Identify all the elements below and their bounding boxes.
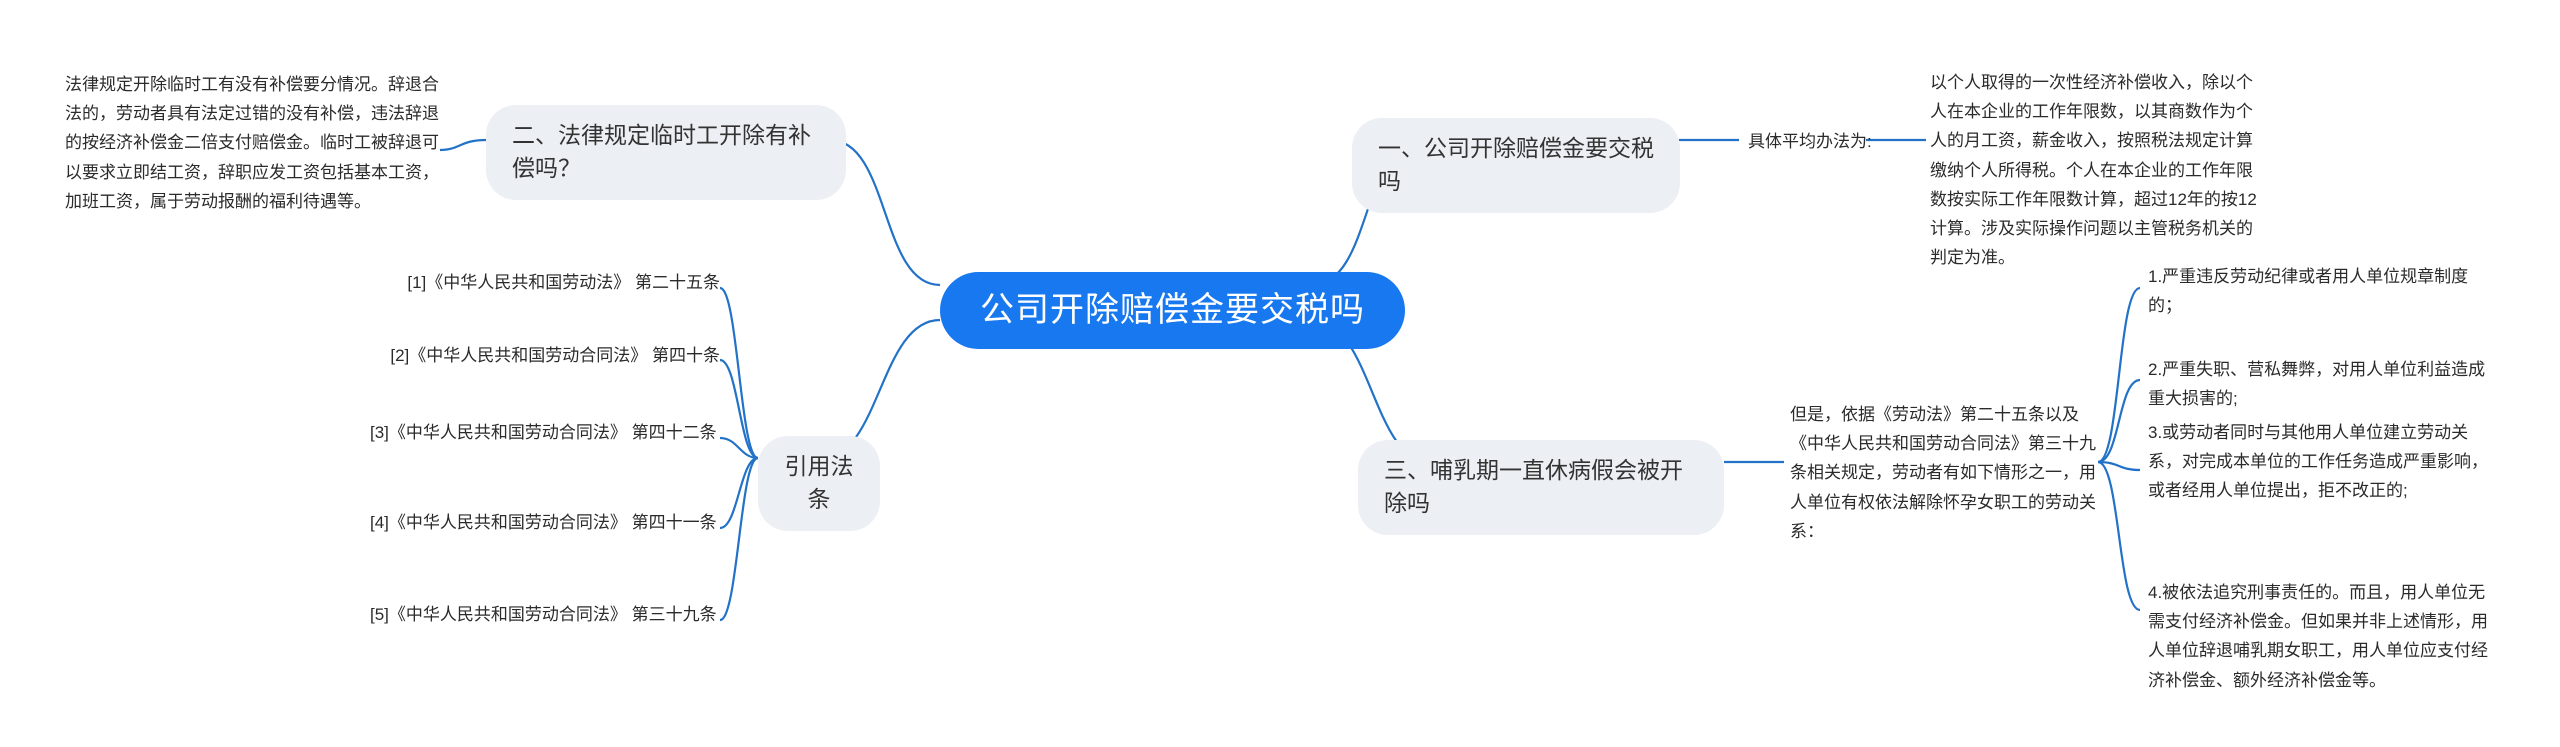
mindmap-canvas: 公司开除赔偿金要交税吗 二、法律规定临时工开除有补偿吗？ 法律规定开除临时工有没… (0, 0, 2560, 747)
link-citation-2 (720, 360, 758, 458)
leaf-citation-2: [2]《中华人民共和国劳动合同法》 第四十条 (330, 341, 720, 370)
link-citation-1 (720, 288, 758, 458)
link-item-2 (2098, 380, 2140, 462)
leaf-citation-3: [3]《中华人民共和国劳动合同法》 第四十二条 (370, 418, 720, 447)
link-topic-two-detail (440, 140, 486, 150)
leaf-topic-three-intro: 但是，依据《劳动法》第二十五条以及《中华人民共和国劳动合同法》第三十九条相关规定… (1790, 400, 2100, 546)
link-item-3 (2098, 462, 2140, 470)
link-root-topic-two (830, 140, 940, 285)
leaf-topic-three-item-3: 3.或劳动者同时与其他用人单位建立劳动关系，对完成本单位的工作任务造成严重影响，… (2148, 418, 2488, 506)
leaf-topic-two-detail: 法律规定开除临时工有没有补偿要分情况。辞退合法的，劳动者具有法定过错的没有补偿，… (65, 70, 440, 216)
leaf-topic-one-detail: 以个人取得的一次性经济补偿收入，除以个人在本企业的工作年限数，以其商数作为个人的… (1930, 68, 2260, 273)
leaf-topic-three-item-4: 4.被依法追究刑事责任的。而且，用人单位无需支付经济补偿金。但如果并非上述情形，… (2148, 578, 2488, 695)
branch-node-topic-one[interactable]: 一、公司开除赔偿金要交税吗 (1352, 118, 1680, 213)
leaf-citation-5: [5]《中华人民共和国劳动合同法》 第三十九条 (370, 600, 720, 629)
branch-node-citations[interactable]: 引用法条 (758, 436, 880, 531)
leaf-topic-one-child-label: 具体平均办法为: (1748, 128, 1872, 155)
leaf-citation-4: [4]《中华人民共和国劳动合同法》 第四十一条 (370, 508, 720, 537)
link-citation-3 (720, 438, 758, 458)
branch-node-topic-two[interactable]: 二、法律规定临时工开除有补偿吗？ (486, 105, 846, 200)
branch-node-topic-three[interactable]: 三、哺乳期一直休病假会被开除吗 (1358, 440, 1724, 535)
leaf-topic-three-item-1: 1.严重违反劳动纪律或者用人单位规章制度的； (2148, 262, 2488, 320)
root-node[interactable]: 公司开除赔偿金要交税吗 (940, 272, 1405, 349)
leaf-citation-1: [1]《中华人民共和国劳动法》 第二十五条 (330, 268, 720, 297)
link-item-1 (2098, 288, 2140, 462)
link-item-4 (2098, 462, 2140, 610)
leaf-topic-three-item-2: 2.严重失职、营私舞弊，对用人单位利益造成重大损害的; (2148, 355, 2488, 413)
link-citation-5 (720, 458, 758, 620)
link-citation-4 (720, 458, 758, 528)
